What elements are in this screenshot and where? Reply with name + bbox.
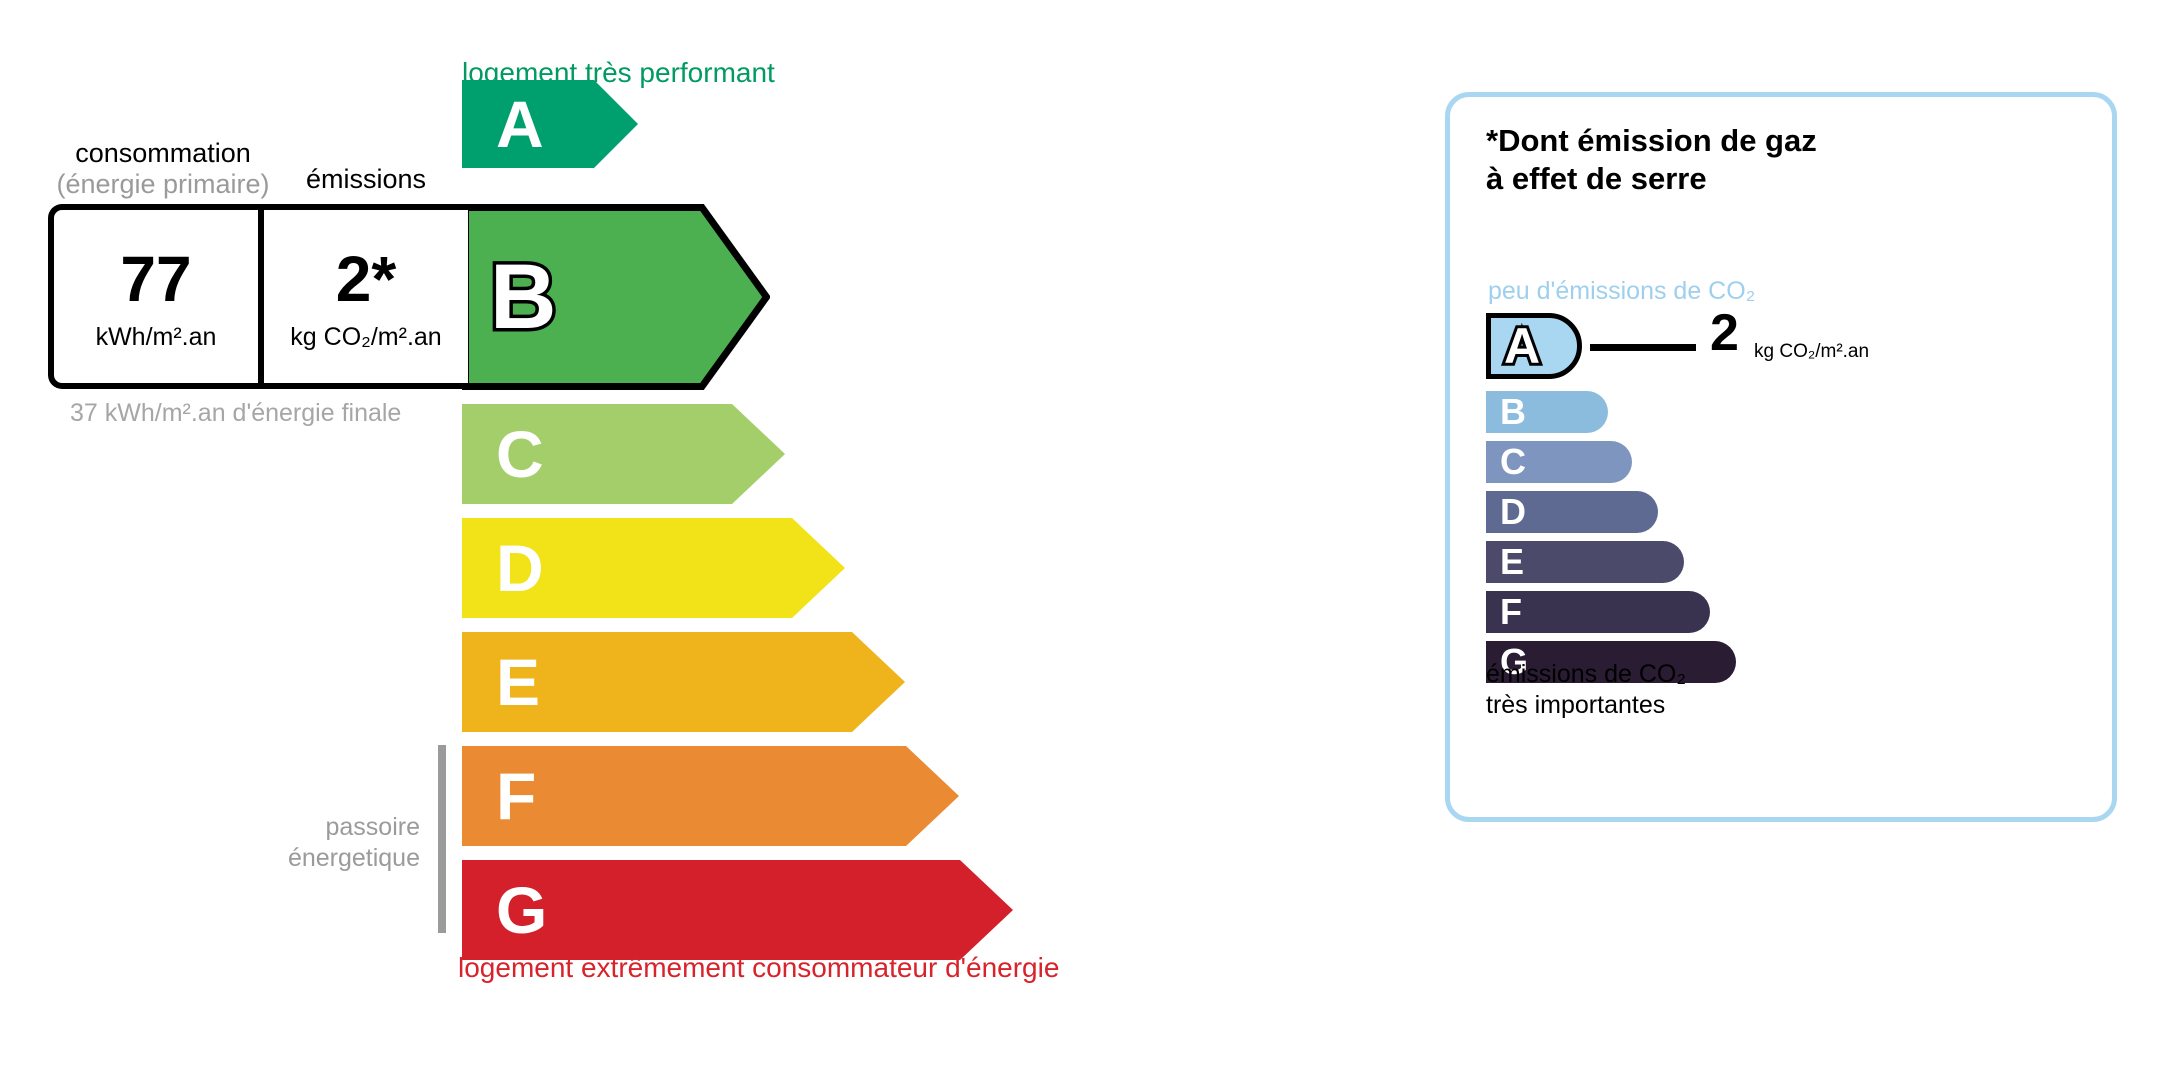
energy-bar-e: E <box>462 632 905 732</box>
co2-bar-a: A <box>1486 313 1582 379</box>
energy-bar-a: A <box>462 80 638 168</box>
energy-bar-letter: E <box>496 649 540 715</box>
co2-title: *Dont émission de gaz à effet de serre <box>1486 122 1817 198</box>
co2-bar-letter: C <box>1500 444 1526 480</box>
energy-bottom-caption: logement extrêmement consommateur d'éner… <box>458 952 1059 984</box>
value-box: 77 kWh/m².an 2* kg CO₂/m².an <box>48 204 468 389</box>
emissions-value: 2* <box>336 247 397 311</box>
co2-value: 2 <box>1710 307 1739 359</box>
co2-panel: *Dont émission de gaz à effet de serre p… <box>1445 92 2117 822</box>
consumption-cell: 77 kWh/m².an <box>54 210 258 383</box>
energy-bar-letter: D <box>496 535 544 601</box>
passoire-label: passoire énergetique <box>240 812 420 875</box>
consumption-header-line1: consommation <box>48 138 278 169</box>
co2-bar-shape: E <box>1486 541 1684 583</box>
energy-bar-shape <box>462 80 638 168</box>
energy-bar-f: F <box>462 746 959 846</box>
co2-bar-shape: B <box>1486 391 1608 433</box>
energy-bar-letter: A <box>496 91 544 157</box>
energy-bar-letter: F <box>496 763 536 829</box>
energy-bar-c: C <box>462 404 785 504</box>
co2-bar-shape: F <box>1486 591 1710 633</box>
co2-bar-a-letter: A <box>1504 321 1540 371</box>
co2-bottom-caption: émissions de CO₂ très importantes <box>1486 659 1686 722</box>
co2-bar-shape: D <box>1486 491 1658 533</box>
consumption-value: 77 <box>120 247 191 311</box>
co2-bar-letter: E <box>1500 544 1524 580</box>
energy-bar-b: B <box>462 204 770 390</box>
energy-bar-g: G <box>462 860 1013 960</box>
co2-bar-c: C <box>1486 441 1632 483</box>
consumption-unit: kWh/m².an <box>96 323 217 352</box>
passoire-bracket <box>438 745 446 933</box>
co2-bar-letter: F <box>1500 594 1522 630</box>
co2-bar-d: D <box>1486 491 1658 533</box>
emissions-unit: kg CO₂/m².an <box>290 323 441 352</box>
energy-bar-letter: C <box>496 421 544 487</box>
co2-bar-b: B <box>1486 391 1608 433</box>
energy-bar-d: D <box>462 518 845 618</box>
final-energy-note: 37 kWh/m².an d'énergie finale <box>70 398 401 429</box>
co2-bar-e: E <box>1486 541 1684 583</box>
energy-bar-letter: G <box>496 877 547 943</box>
energy-performance-panel: logement très performant ABCDEFG consomm… <box>0 0 1380 1079</box>
co2-bar-f: F <box>1486 591 1710 633</box>
energy-bar-shape <box>462 746 959 846</box>
co2-top-caption: peu d'émissions de CO₂ <box>1488 277 1755 306</box>
emissions-header: émissions <box>286 164 446 195</box>
co2-bar-shape: C <box>1486 441 1632 483</box>
consumption-header-line2: (énergie primaire) <box>48 169 278 200</box>
co2-bar-letter: B <box>1500 394 1526 430</box>
consumption-header: consommation (énergie primaire) <box>48 138 278 200</box>
co2-bar-letter: D <box>1500 494 1526 530</box>
emissions-cell: 2* kg CO₂/m².an <box>258 210 468 383</box>
dpe-energy-label: logement très performant ABCDEFG consomm… <box>0 0 2169 1079</box>
co2-value-unit: kg CO₂/m².an <box>1754 341 1869 363</box>
co2-connector-line <box>1590 344 1696 351</box>
energy-bar-letter: B <box>490 251 556 343</box>
